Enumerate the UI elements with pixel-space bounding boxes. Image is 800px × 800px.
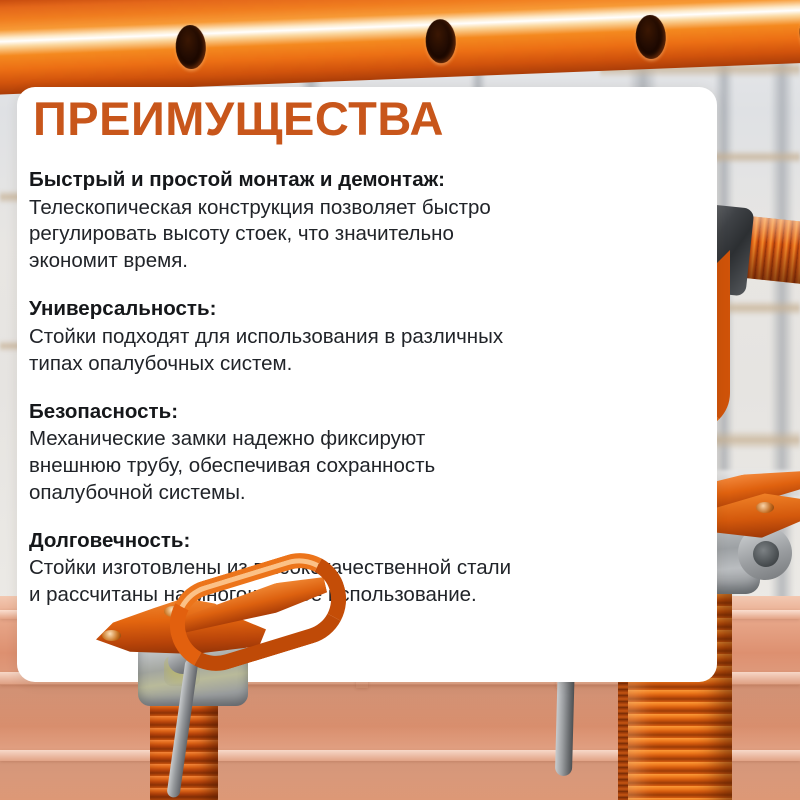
advantage-heading: Быстрый и простой монтаж и демонтаж: (29, 167, 607, 194)
list-item: Быстрый и простой монтаж и демонтаж: Тел… (29, 167, 607, 275)
advantage-heading: Безопасность: (29, 399, 607, 426)
poster-canvas: ПРЕИМУЩЕСТВА Быстрый и простой монтаж и … (0, 0, 800, 800)
prop-bolt-hole-icon (102, 630, 121, 641)
prop-nut-eye-hole-icon (753, 541, 779, 567)
page-title: ПРЕИМУЩЕСТВА (33, 95, 444, 142)
list-item: Универсальность: Стойки подходят для исп… (29, 296, 607, 377)
advantage-text: Механические замки надежно фиксируют вне… (29, 426, 607, 507)
advantage-text: Стойки подходят для использования в разл… (29, 324, 607, 378)
list-item: Безопасность: Механические замки надежно… (29, 399, 607, 507)
advantage-heading: Универсальность: (29, 296, 607, 323)
advantage-heading: Долговечность: (29, 528, 607, 555)
prop-wing-hole-icon (756, 502, 774, 513)
advantages-list: Быстрый и простой монтаж и демонтаж: Тел… (29, 167, 607, 609)
telescopic-prop-jack-bottom-left (60, 572, 380, 800)
advantage-text: Телескопическая конструкция позволяет бы… (29, 195, 607, 276)
